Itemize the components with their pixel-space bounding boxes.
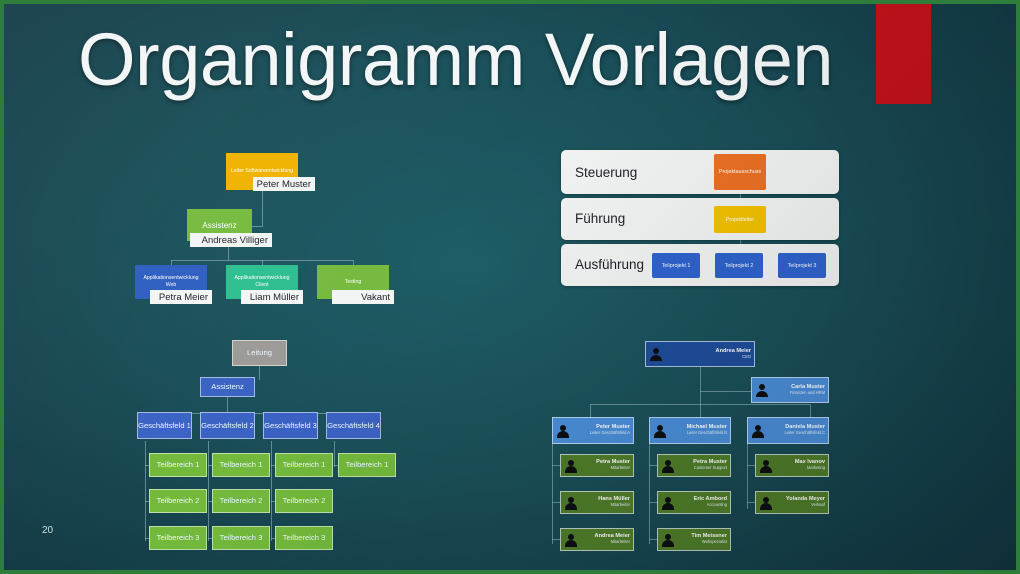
chip-teilprojekt-3[interactable]: Teilprojekt 3	[778, 253, 826, 278]
person-role: Mitarbeiter	[578, 503, 630, 507]
person-avatar-icon	[648, 347, 663, 362]
person-avatar-icon	[758, 495, 773, 510]
node-geschaeftsfeld-2[interactable]: Geschäftsfeld 2	[200, 412, 255, 439]
person-avatar-icon	[652, 423, 667, 438]
node-label: Applikationsentwicklung Client	[226, 275, 298, 288]
node-person-app-web: Petra Meier	[150, 290, 212, 304]
person-text: Michael Muster Leiter Geschäftsfeld B	[667, 425, 730, 435]
person-avatar-icon	[660, 458, 675, 473]
node-assistenz[interactable]: Assistenz	[200, 377, 255, 397]
person-card-branch-head[interactable]: Daniela Muster Leiter Geschäftsfeld C	[747, 417, 829, 444]
connector	[700, 367, 701, 417]
person-card-member[interactable]: Max Ivanov Marketing	[755, 454, 829, 477]
person-role: Webspezialist	[675, 540, 727, 544]
person-avatar-icon	[660, 495, 675, 510]
node-label: Leiter Softwareentwicklung	[227, 168, 297, 175]
person-role: Customer Support	[675, 466, 727, 470]
row-label-ausfuehrung: Ausführung	[575, 257, 644, 272]
connector	[649, 502, 657, 503]
person-role: Mitarbeiter	[578, 540, 630, 544]
connector	[700, 391, 752, 392]
person-role: Leiter Geschäftsfeld C	[765, 431, 825, 435]
connector	[649, 539, 657, 540]
person-card-member[interactable]: Tim Meissner Webspezialist	[657, 528, 731, 551]
node-teilbereich[interactable]: Teilbereich 3	[149, 526, 207, 550]
person-role: Leiter Geschäftsfeld A	[570, 431, 630, 435]
node-teilbereich[interactable]: Teilbereich 3	[275, 526, 333, 550]
slide: Organigramm Vorlagen 20 Leiter Softwaree…	[0, 0, 1020, 574]
person-avatar-icon	[758, 458, 773, 473]
row-label-fuehrung: Führung	[575, 211, 625, 226]
person-card-staff[interactable]: Carla Muster Finanzen und HRM	[751, 377, 829, 403]
connector	[747, 502, 755, 503]
person-text: Daniela Muster Leiter Geschäftsfeld C	[765, 425, 828, 435]
person-card-ceo[interactable]: Andrea Meier CEO	[645, 341, 755, 367]
node-label: Applikationsentwicklung Web	[135, 275, 207, 288]
chip-projektleiter[interactable]: Projektleiter	[714, 206, 766, 233]
person-text: Andrea Meier Mitarbeiter	[578, 534, 633, 544]
connector	[810, 404, 811, 417]
person-card-member[interactable]: Eric Ambord Accounting	[657, 491, 731, 514]
person-avatar-icon	[563, 458, 578, 473]
person-text: Hans Müller Mitarbeiter	[578, 497, 633, 507]
person-text: Eric Ambord Accounting	[675, 497, 730, 507]
connector	[552, 444, 553, 544]
connector	[747, 444, 748, 509]
connector	[649, 444, 650, 544]
person-role: Accounting	[675, 503, 727, 507]
person-avatar-icon	[555, 423, 570, 438]
person-card-branch-head[interactable]: Peter Muster Leiter Geschäftsfeld A	[552, 417, 634, 444]
node-person-app-client: Liam Müller	[241, 290, 303, 304]
connector	[208, 441, 209, 541]
node-geschaeftsfeld-3[interactable]: Geschäftsfeld 3	[263, 412, 318, 439]
node-teilbereich[interactable]: Teilbereich 2	[275, 489, 333, 513]
person-role: CEO	[663, 355, 751, 359]
connector	[649, 465, 657, 466]
person-role: Leiter Geschäftsfeld B	[667, 431, 727, 435]
person-text: Yolanda Meyer Verkauf	[773, 497, 828, 507]
connector	[552, 502, 560, 503]
chip-label: Teilprojekt 3	[788, 263, 817, 269]
person-card-member[interactable]: Petra Muster Customer Support	[657, 454, 731, 477]
chip-label: Projektausschuss	[719, 169, 761, 175]
node-teilbereich[interactable]: Teilbereich 1	[275, 453, 333, 477]
person-role: Verkauf	[773, 503, 825, 507]
person-text: Andrea Meier CEO	[663, 349, 754, 359]
person-role: Marketing	[773, 466, 825, 470]
chip-label: Teilprojekt 2	[725, 263, 754, 269]
person-avatar-icon	[750, 423, 765, 438]
row-label-steuerung: Steuerung	[575, 165, 637, 180]
chip-label: Teilprojekt 1	[662, 263, 691, 269]
node-teilbereich[interactable]: Teilbereich 1	[338, 453, 396, 477]
node-geschaeftsfeld-1[interactable]: Geschäftsfeld 1	[137, 412, 192, 439]
page-number: 20	[42, 525, 53, 536]
page-title: Organigramm Vorlagen	[78, 13, 988, 107]
person-text: Petra Muster Mitarbeiter	[578, 460, 633, 470]
person-role: Mitarbeiter	[578, 466, 630, 470]
person-card-member[interactable]: Andrea Meier Mitarbeiter	[560, 528, 634, 551]
node-person-testing: Vakant	[332, 290, 394, 304]
person-avatar-icon	[563, 495, 578, 510]
node-teilbereich[interactable]: Teilbereich 3	[212, 526, 270, 550]
node-geschaeftsfeld-4[interactable]: Geschäftsfeld 4	[326, 412, 381, 439]
chip-teilprojekt-2[interactable]: Teilprojekt 2	[715, 253, 763, 278]
person-card-branch-head[interactable]: Michael Muster Leiter Geschäftsfeld B	[649, 417, 731, 444]
chip-label: Projektleiter	[726, 217, 754, 223]
title-area: Organigramm Vorlagen	[4, 4, 1020, 124]
node-teilbereich[interactable]: Teilbereich 1	[212, 453, 270, 477]
connector	[747, 465, 755, 466]
connector	[227, 397, 228, 413]
person-text: Tim Meissner Webspezialist	[675, 534, 730, 544]
person-avatar-icon	[660, 532, 675, 547]
node-person-assistenz: Andreas Villiger	[190, 233, 272, 247]
node-person-leiter: Peter Muster	[253, 177, 315, 191]
person-text: Petra Muster Customer Support	[675, 460, 730, 470]
connector	[334, 441, 335, 467]
chip-projektausschuss[interactable]: Projektausschuss	[714, 154, 766, 190]
connector	[145, 441, 146, 541]
chip-teilprojekt-1[interactable]: Teilprojekt 1	[652, 253, 700, 278]
connector	[590, 404, 810, 405]
person-card-member[interactable]: Petra Muster Mitarbeiter	[560, 454, 634, 477]
node-label: Assistenz	[202, 221, 236, 230]
person-text: Peter Muster Leiter Geschäftsfeld A	[570, 425, 633, 435]
person-avatar-icon	[754, 383, 769, 398]
connector	[590, 404, 591, 417]
person-avatar-icon	[563, 532, 578, 547]
connector	[262, 190, 263, 226]
person-role: Finanzen und HRM	[769, 391, 825, 395]
node-teilbereich[interactable]: Teilbereich 2	[149, 489, 207, 513]
person-text: Carla Muster Finanzen und HRM	[769, 385, 828, 395]
person-card-member[interactable]: Hans Müller Mitarbeiter	[560, 491, 634, 514]
person-text: Max Ivanov Marketing	[773, 460, 828, 470]
node-teilbereich[interactable]: Teilbereich 2	[212, 489, 270, 513]
node-leitung[interactable]: Leitung	[232, 340, 287, 366]
node-teilbereich[interactable]: Teilbereich 1	[149, 453, 207, 477]
connector	[271, 441, 272, 541]
connector	[552, 465, 560, 466]
connector	[259, 366, 260, 380]
person-card-member[interactable]: Yolanda Meyer Verkauf	[755, 491, 829, 514]
node-label: Testing	[341, 279, 365, 286]
connector	[552, 539, 560, 540]
